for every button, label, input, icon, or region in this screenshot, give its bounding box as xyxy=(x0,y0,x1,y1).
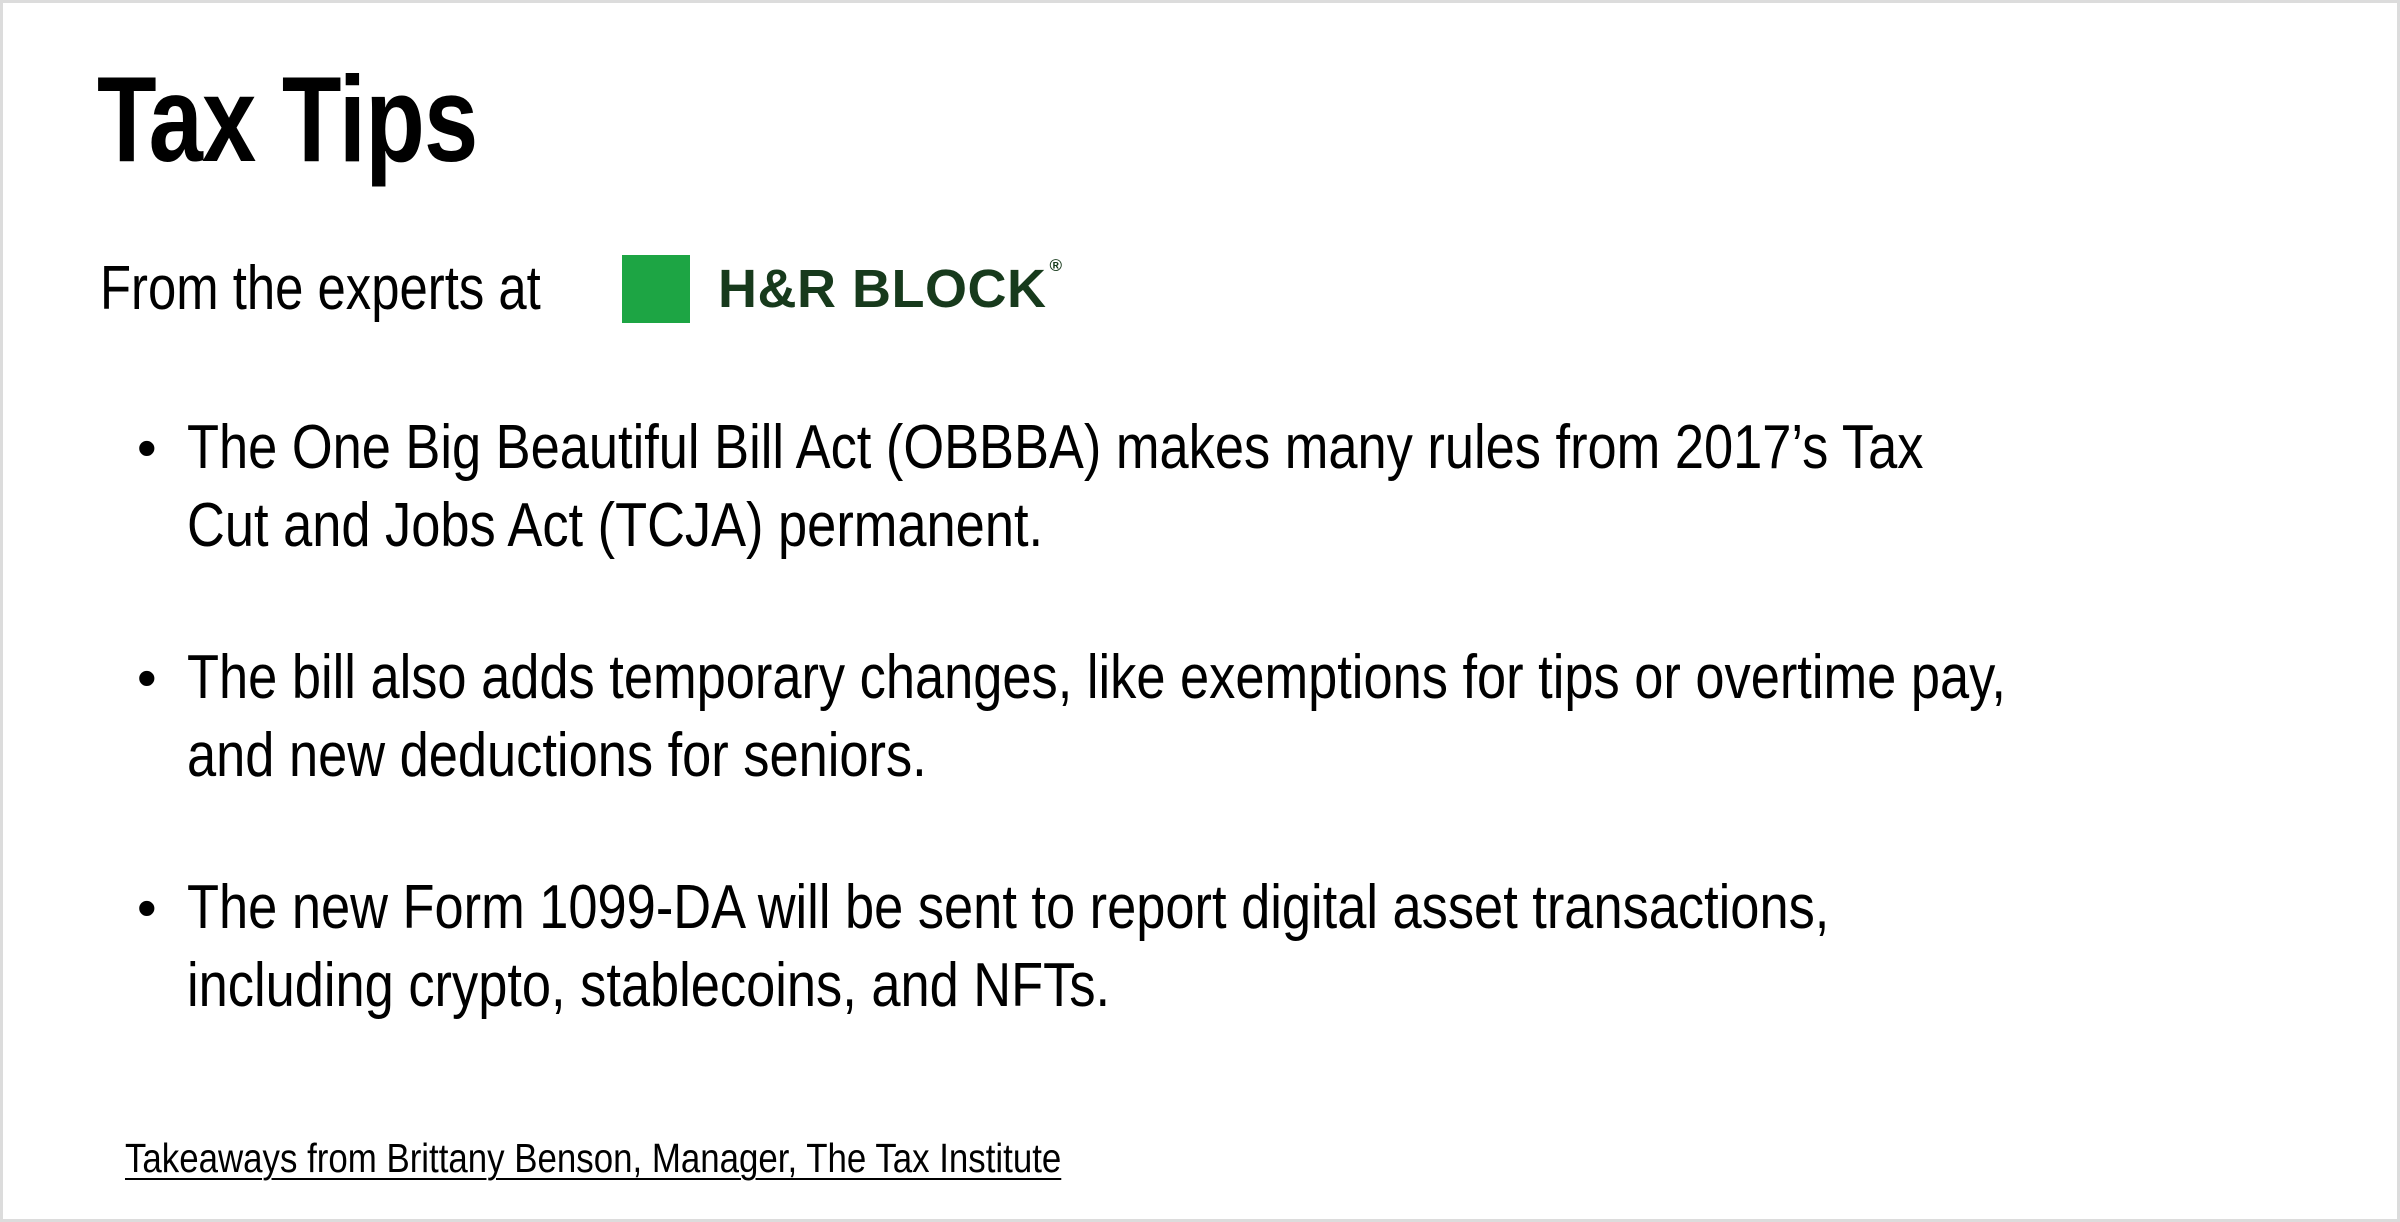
logo-wordmark: H&R BLOCK® xyxy=(718,262,1059,316)
list-item-text: The One Big Beautiful Bill Act (OBBBA) m… xyxy=(187,409,2017,565)
bullet-point-icon: • xyxy=(133,869,187,947)
hr-block-logo: H&R BLOCK® xyxy=(622,255,1059,323)
slide-canvas: Tax Tips From the experts at H&R BLOCK® … xyxy=(0,0,2400,1222)
list-item-text: The new Form 1099-DA will be sent to rep… xyxy=(187,869,2017,1025)
subtitle-text: From the experts at xyxy=(100,258,625,320)
list-item-text: The bill also adds temporary changes, li… xyxy=(187,639,2017,795)
bullet-list: • The One Big Beautiful Bill Act (OBBBA)… xyxy=(133,409,2353,1025)
registered-trademark-icon: ® xyxy=(1049,256,1062,275)
logo-wordmark-text: H&R BLOCK xyxy=(718,259,1046,319)
bullet-point-icon: • xyxy=(133,639,187,717)
logo-square-icon xyxy=(622,255,690,323)
footer-attribution: Takeaways from Brittany Benson, Manager,… xyxy=(125,1138,1061,1179)
page-title: Tax Tips xyxy=(97,58,478,180)
list-item: • The new Form 1099-DA will be sent to r… xyxy=(133,869,2353,1025)
list-item: • The One Big Beautiful Bill Act (OBBBA)… xyxy=(133,409,2353,565)
bullet-point-icon: • xyxy=(133,409,187,487)
list-item: • The bill also adds temporary changes, … xyxy=(133,639,2353,795)
subtitle-row: From the experts at H&R BLOCK® xyxy=(100,246,1059,332)
